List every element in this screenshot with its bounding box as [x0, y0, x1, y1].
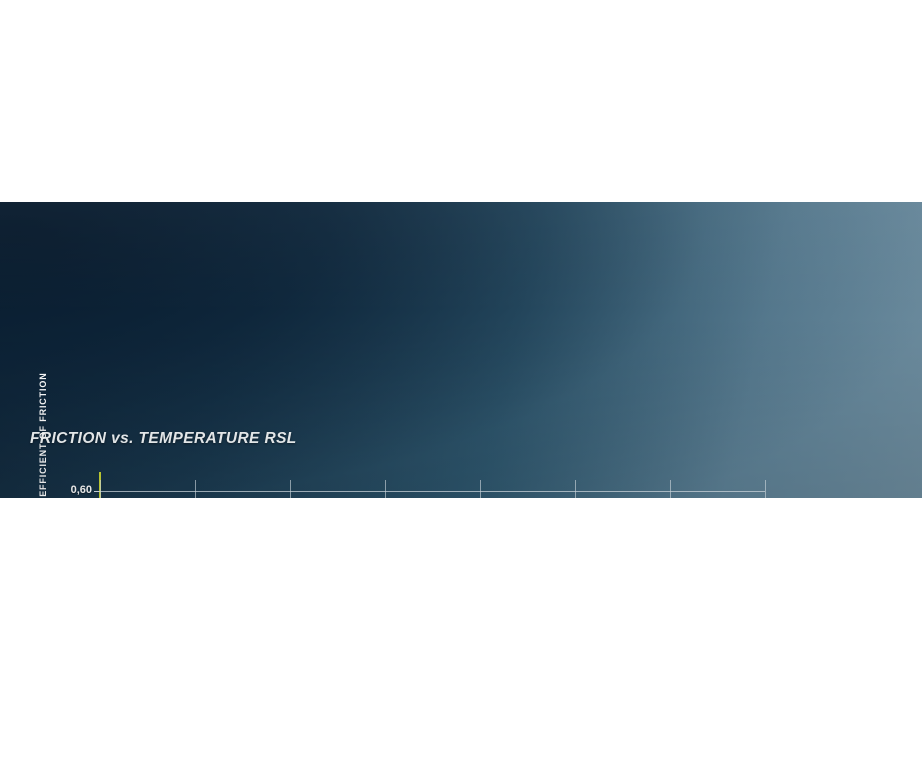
- page-title: FRICTION vs. TEMPERATURE RSL: [30, 430, 297, 448]
- series-lines: [100, 480, 765, 498]
- chart-banner: FRICTION vs. TEMPERATURE RSL 0,600,550,5…: [0, 202, 922, 498]
- gridline-vertical: [765, 480, 766, 498]
- page-root: FRICTION vs. TEMPERATURE RSL 0,600,550,5…: [0, 0, 922, 762]
- y-axis-tick-label: 0,60: [50, 484, 92, 496]
- y-axis-title: COEFFICIENT OF FRICTION: [38, 362, 48, 498]
- plot-area: 0,600,550,500,450,400,350,30 100°C200°C3…: [100, 480, 765, 498]
